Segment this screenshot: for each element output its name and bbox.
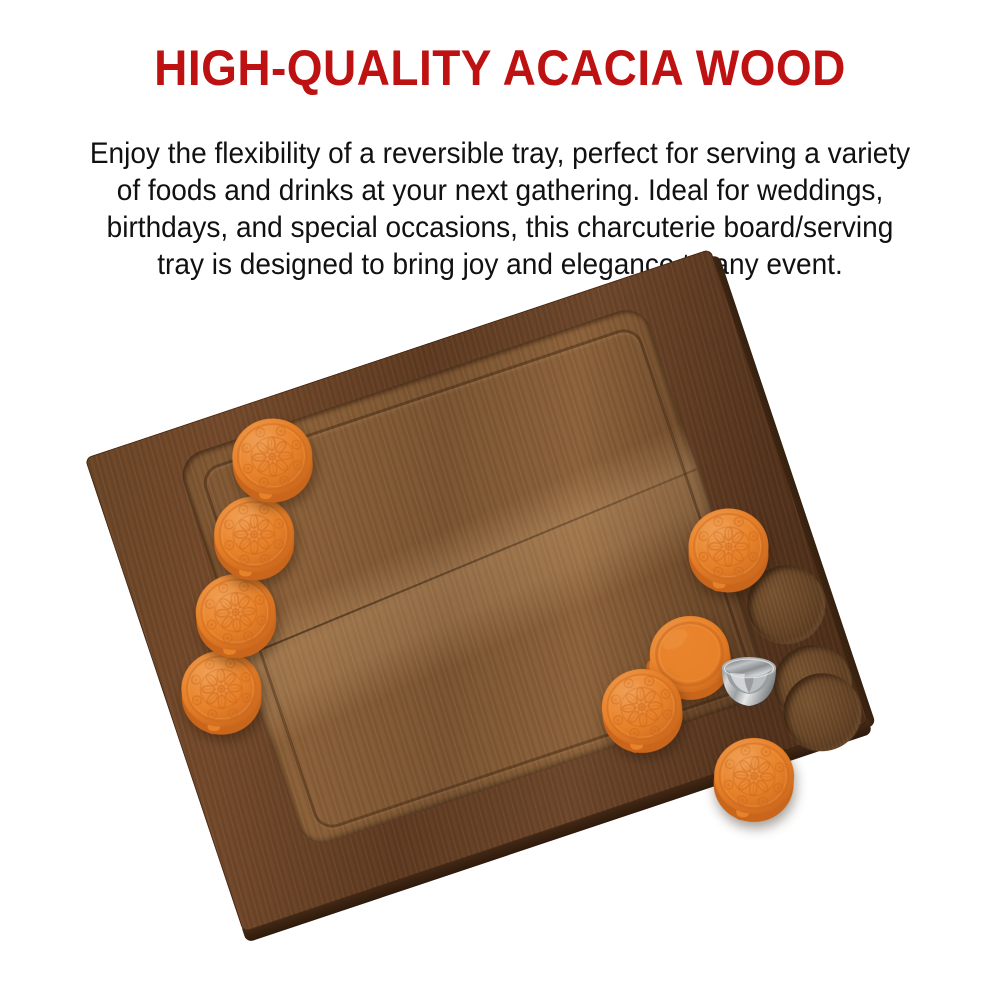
product-description: Enjoy the flexibility of a reversible tr… <box>84 135 916 283</box>
product-photo <box>0 300 1000 1000</box>
lid-board-5 <box>682 502 775 595</box>
lid-loose-3 <box>705 729 803 827</box>
page-title: HIGH-QUALITY ACACIA WOOD <box>40 42 960 95</box>
steel-bowl <box>714 652 784 722</box>
product-marketing-image: HIGH-QUALITY ACACIA WOOD Enjoy the flexi… <box>0 0 1000 1000</box>
acacia-serving-tray <box>85 249 876 952</box>
lid-loose-2 <box>591 658 692 759</box>
lid-board-4 <box>224 410 321 507</box>
